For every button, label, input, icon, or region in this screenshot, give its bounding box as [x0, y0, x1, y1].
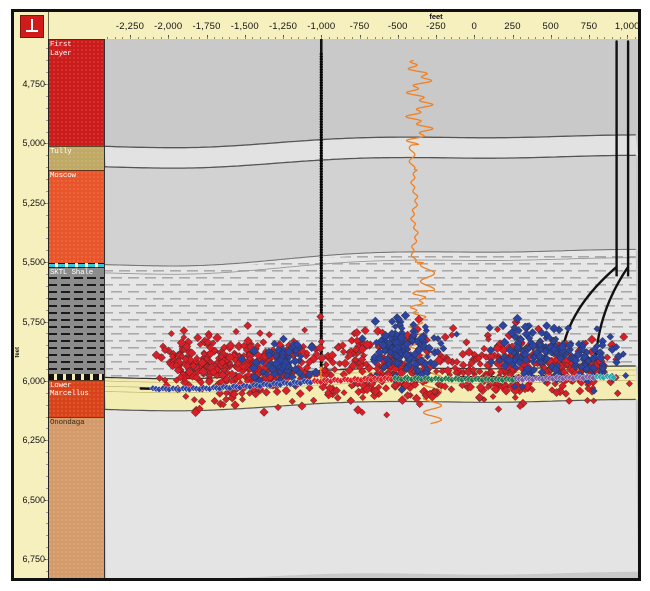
monitor-well-receiver: [320, 207, 323, 208]
monitor-well-receiver: [320, 241, 323, 242]
sktl-hatch-dash: [349, 291, 360, 293]
monitor-well-receiver: [320, 129, 323, 130]
y-axis-minor-tick: [46, 369, 48, 370]
sktl-hatch-dash: [578, 312, 589, 314]
stratigraphic-column: FirstLayerTullyMoscowSKTL ShaleLowerMarc…: [48, 39, 105, 578]
sktl-hatch-dash: [340, 312, 351, 314]
y-axis-minor-tick: [46, 452, 48, 453]
sktl-hatch-dash: [145, 347, 156, 349]
y-axis-minor-tick: [46, 215, 48, 216]
x-axis-tick-label: 1,000: [615, 21, 640, 32]
monitor-well-receiver: [320, 294, 323, 295]
y-axis-minor-tick: [46, 428, 48, 429]
x-axis-tick-label: -1,250: [269, 21, 297, 32]
sktl-hatch-dash: [153, 284, 164, 286]
monitor-well-receiver: [320, 220, 323, 221]
sktl-hatch-dash: [459, 326, 470, 328]
sktl-hatch-dash: [128, 333, 139, 335]
monitor-well-receiver: [320, 147, 323, 148]
sktl-hatch-dash: [213, 305, 224, 307]
y-axis-minor-tick: [46, 84, 48, 85]
cross-section-canvas: [104, 39, 638, 578]
monitor-well-receiver: [320, 283, 323, 284]
sktl-hatch-dash: [213, 291, 224, 293]
monitor-well-receiver: [320, 111, 323, 112]
sktl-hatch-dash: [247, 277, 258, 279]
sktl-hatch-dash: [612, 326, 623, 328]
sktl-hatch-dash: [544, 312, 555, 314]
sktl-hatch-dash: [281, 319, 292, 321]
sktl-hatch-dash: [289, 312, 300, 314]
sktl-hatch-dash: [493, 256, 504, 258]
sktl-hatch-dash: [442, 284, 453, 286]
x-axis-tick-label: -1,000: [307, 21, 335, 32]
y-axis-minor-tick: [46, 571, 48, 572]
sktl-hatch-dash: [493, 284, 504, 286]
sktl-hatch-dash: [119, 312, 130, 314]
y-axis-minor-tick: [46, 405, 48, 406]
sktl-hatch-dash: [145, 319, 156, 321]
sktl-hatch-dash: [230, 277, 241, 279]
monitor-well-receiver: [320, 322, 323, 323]
sktl-hatch-dash: [323, 340, 334, 342]
sktl-hatch-dash: [561, 256, 572, 258]
strat-label-moscow: Moscow: [50, 172, 76, 181]
sktl-hatch-dash: [145, 277, 156, 279]
sktl-hatch-dash: [459, 256, 470, 258]
monitor-well-receiver: [320, 223, 323, 224]
x-axis-tick-label: -250: [426, 21, 446, 32]
monitor-well-receiver: [320, 98, 323, 99]
y-axis-minor-tick: [46, 298, 48, 299]
monitor-well-receiver: [320, 291, 323, 292]
monitor-well-receiver: [320, 121, 323, 122]
sktl-hatch-dash: [247, 305, 258, 307]
y-axis-minor-tick: [46, 310, 48, 311]
monitor-well-receiver: [320, 194, 323, 195]
sktl-hatch-dash: [357, 312, 368, 314]
sktl-hatch-dash: [136, 284, 147, 286]
sktl-hatch-dash: [153, 270, 164, 272]
sktl-hatch-dash: [111, 291, 122, 293]
sktl-hatch-dash: [119, 354, 130, 356]
sktl-hatch-dash: [306, 340, 317, 342]
monitor-well-receiver: [320, 200, 323, 201]
strat-label-onondaga: Onondaga: [50, 419, 84, 428]
sktl-hatch-dash: [170, 284, 181, 286]
monitor-well-receiver: [320, 179, 323, 180]
sktl-hatch-dash: [434, 305, 445, 307]
sktl-hatch-dash: [306, 298, 317, 300]
x-axis-tick-label: -750: [350, 21, 370, 32]
layer-moscow: [104, 155, 638, 266]
sktl-hatch-dash: [536, 263, 547, 265]
sktl-hatch-dash: [179, 319, 190, 321]
y-axis-minor-tick: [46, 191, 48, 192]
sktl-hatch-dash: [434, 277, 445, 279]
y-axis-minor-tick: [46, 96, 48, 97]
sktl-hatch-dash: [629, 340, 638, 342]
sktl-hatch-dash: [451, 305, 462, 307]
sktl-hatch-dash: [340, 270, 351, 272]
monitor-well-receiver: [320, 74, 323, 75]
y-axis-minor-tick: [46, 345, 48, 346]
sktl-hatch-dash: [204, 312, 215, 314]
y-axis-tick-label: 5,750: [22, 317, 45, 327]
sktl-hatch-dash: [451, 347, 462, 349]
strat-label-tully: Tully: [50, 148, 72, 157]
sktl-hatch-dash: [408, 284, 419, 286]
sktl-hatch-dash: [170, 298, 181, 300]
sktl-hatch-dash: [255, 326, 266, 328]
sktl-hatch-dash: [119, 270, 130, 272]
sktl-hatch-dash: [612, 312, 623, 314]
sktl-hatch-dash: [111, 305, 122, 307]
sktl-hatch-dash: [561, 298, 572, 300]
monitor-well-receiver: [320, 335, 323, 336]
sktl-hatch-dash: [272, 298, 283, 300]
monitor-well-receiver: [320, 155, 323, 156]
y-axis-minor-tick: [46, 238, 48, 239]
y-axis-tick-label: 6,750: [22, 554, 45, 564]
sktl-hatch-dash: [357, 256, 368, 258]
sktl-hatch-dash: [476, 312, 487, 314]
sktl-hatch-dash: [357, 284, 368, 286]
sktl-hatch-dash: [493, 298, 504, 300]
monitor-well-receiver: [320, 267, 323, 268]
x-axis-tick-label: -1,500: [231, 21, 259, 32]
strat-marker-band-cyan: [48, 263, 104, 268]
strat-label-first-layer: FirstLayer: [50, 41, 72, 58]
sktl-hatch-dash: [544, 256, 555, 258]
sktl-hatch-dash: [332, 333, 343, 335]
layer-onondaga: [104, 399, 638, 578]
sktl-hatch-dash: [468, 305, 479, 307]
x-axis-tick-label: 750: [581, 21, 597, 32]
sktl-hatch-dash: [374, 298, 385, 300]
monitor-well-receiver: [320, 64, 323, 65]
sktl-hatch-dash: [510, 270, 521, 272]
sktl-hatch-dash: [153, 340, 164, 342]
monitor-well-receiver: [320, 53, 323, 54]
sktl-hatch-dash: [451, 319, 462, 321]
x-axis-tick-label: -2,000: [154, 21, 182, 32]
sktl-hatch-dash: [476, 298, 487, 300]
monitor-well-receiver: [320, 275, 323, 276]
sktl-hatch-dash: [119, 368, 130, 370]
sktl-hatch-dash: [510, 256, 521, 258]
sktl-hatch-dash: [196, 291, 207, 293]
monitor-well-receiver: [320, 85, 323, 86]
y-axis-minor-tick: [46, 333, 48, 334]
y-axis-minor-tick: [46, 547, 48, 548]
sktl-hatch-dash: [536, 305, 547, 307]
sktl-hatch-dash: [162, 291, 173, 293]
sktl-hatch-dash: [578, 270, 589, 272]
y-axis-tick-label: 5,000: [22, 138, 45, 148]
monitor-well-receiver: [320, 137, 323, 138]
monitor-well-receiver: [320, 249, 323, 250]
sktl-hatch-dash: [493, 270, 504, 272]
sktl-hatch-dash: [578, 256, 589, 258]
sktl-hatch-dash: [357, 298, 368, 300]
sktl-hatch-dash: [264, 277, 275, 279]
sktl-hatch-dash: [111, 319, 122, 321]
sktl-hatch-dash: [323, 312, 334, 314]
sktl-hatch-dash: [536, 319, 547, 321]
y-axis-minor-tick: [46, 179, 48, 180]
sktl-hatch-dash: [323, 326, 334, 328]
monitor-well-receiver: [320, 333, 323, 334]
monitor-well-receiver: [320, 152, 323, 153]
monitor-well-receiver: [320, 158, 323, 159]
monitor-well-receiver: [320, 270, 323, 271]
strat-band-moscow: [48, 170, 104, 264]
monitor-well-receiver: [320, 87, 323, 88]
monitor-well-receiver: [320, 132, 323, 133]
sktl-hatch-dash: [485, 291, 496, 293]
sktl-hatch-dash: [391, 270, 402, 272]
monitor-well-receiver: [320, 79, 323, 80]
sktl-hatch-dash: [170, 312, 181, 314]
sktl-hatch-dash: [340, 284, 351, 286]
sktl-hatch-dash: [136, 270, 147, 272]
y-axis-tick-label: 6,000: [22, 376, 45, 386]
sktl-hatch-dash: [391, 298, 402, 300]
y-axis-minor-tick: [46, 143, 48, 144]
sktl-hatch-dash: [196, 277, 207, 279]
sktl-hatch-dash: [587, 319, 598, 321]
sktl-hatch-dash: [221, 298, 232, 300]
sktl-hatch-dash: [332, 277, 343, 279]
sktl-hatch-dash: [119, 284, 130, 286]
y-axis-minor-tick: [46, 322, 48, 323]
sktl-hatch-dash: [408, 270, 419, 272]
x-axis: -2,250-2,000-1,750-1,500-1,250-1,000-750…: [14, 12, 638, 40]
sktl-hatch-dash: [442, 256, 453, 258]
sktl-hatch-dash: [374, 270, 385, 272]
monitor-well-receiver: [320, 286, 323, 287]
sktl-hatch-dash: [306, 312, 317, 314]
sktl-hatch-dash: [425, 312, 436, 314]
y-axis-tick-label: 5,500: [22, 257, 45, 267]
sktl-hatch-dash: [553, 319, 564, 321]
sktl-hatch-dash: [247, 319, 258, 321]
sktl-hatch-dash: [595, 270, 606, 272]
monitor-well-receiver: [320, 288, 323, 289]
x-axis-tick-label: -2,250: [116, 21, 144, 32]
y-axis-minor-tick: [46, 108, 48, 109]
sktl-hatch-dash: [255, 284, 266, 286]
y-axis-minor-tick: [46, 535, 48, 536]
monitor-well-receiver: [320, 239, 323, 240]
sktl-hatch-dash: [221, 284, 232, 286]
company-logo-icon: [20, 15, 44, 38]
sktl-hatch-dash: [595, 256, 606, 258]
sktl-hatch-dash: [510, 284, 521, 286]
monitor-well-receiver: [320, 82, 323, 83]
sktl-hatch-dash: [153, 326, 164, 328]
sktl-hatch-dash: [553, 277, 564, 279]
monitor-well-receiver: [320, 142, 323, 143]
sktl-hatch-dash: [476, 284, 487, 286]
sktl-hatch-dash: [255, 298, 266, 300]
sktl-hatch-dash: [366, 291, 377, 293]
sktl-hatch-dash: [612, 340, 623, 342]
monitor-well-receiver: [320, 273, 323, 274]
sktl-hatch-dash: [621, 361, 632, 363]
sktl-hatch-dash: [476, 270, 487, 272]
sktl-hatch-dash: [136, 298, 147, 300]
sktl-hatch-dash: [570, 291, 581, 293]
sktl-hatch-dash: [383, 263, 394, 265]
sktl-hatch-dash: [468, 291, 479, 293]
y-axis-tick-label: 4,750: [22, 79, 45, 89]
sktl-hatch-dash: [281, 277, 292, 279]
sktl-hatch-dash: [289, 326, 300, 328]
sktl-hatch-dash: [442, 312, 453, 314]
sktl-hatch-dash: [621, 291, 632, 293]
sktl-hatch-dash: [374, 312, 385, 314]
monitor-well-receiver: [320, 260, 323, 261]
monitor-well-receiver: [320, 181, 323, 182]
monitor-well-receiver: [320, 134, 323, 135]
sktl-hatch-dash: [170, 326, 181, 328]
monitor-well-receiver: [320, 325, 323, 326]
sktl-hatch-dash: [145, 375, 156, 377]
sktl-hatch-dash: [111, 277, 122, 279]
sktl-hatch-dash: [204, 326, 215, 328]
sktl-hatch-dash: [621, 319, 632, 321]
monitor-well-receiver: [320, 213, 323, 214]
monitor-well-receiver: [320, 202, 323, 203]
sktl-hatch-dash: [104, 298, 113, 300]
sktl-hatch-dash: [204, 284, 215, 286]
monitor-well-receiver: [320, 247, 323, 248]
y-axis-minor-tick: [46, 440, 48, 441]
sktl-hatch-dash: [298, 333, 309, 335]
sktl-hatch-dash: [349, 277, 360, 279]
sktl-hatch-dash: [527, 284, 538, 286]
strat-band-onondaga: [48, 417, 104, 578]
sktl-hatch-dash: [519, 263, 530, 265]
monitor-well-receiver: [320, 330, 323, 331]
monitor-well-receiver: [320, 218, 323, 219]
sktl-hatch-dash: [136, 354, 147, 356]
sktl-hatch-dash: [323, 270, 334, 272]
sktl-hatch-dash: [179, 291, 190, 293]
sktl-hatch-dash: [162, 375, 173, 377]
sktl-hatch-dash: [196, 305, 207, 307]
monitor-well-receiver: [320, 257, 323, 258]
monitor-well-receiver: [320, 58, 323, 59]
monitor-well-receiver: [320, 92, 323, 93]
sktl-hatch-dash: [621, 263, 632, 265]
sktl-hatch-dash: [434, 263, 445, 265]
sktl-hatch-dash: [145, 361, 156, 363]
y-axis-minor-tick: [46, 286, 48, 287]
sktl-hatch-dash: [221, 270, 232, 272]
x-axis-unit-label: feet: [429, 12, 442, 21]
sktl-hatch-dash: [179, 305, 190, 307]
y-axis-label: feet: [15, 347, 21, 358]
sktl-hatch-dash: [340, 298, 351, 300]
sktl-hatch-dash: [104, 284, 113, 286]
sktl-hatch-dash: [264, 319, 275, 321]
sktl-hatch-dash: [570, 333, 581, 335]
sktl-hatch-dash: [340, 326, 351, 328]
monitor-well-receiver: [320, 150, 323, 151]
sktl-hatch-dash: [476, 340, 487, 342]
sktl-hatch-dash: [170, 270, 181, 272]
monitor-well-receiver: [320, 327, 323, 328]
sktl-hatch-dash: [104, 326, 113, 328]
sktl-hatch-dash: [527, 270, 538, 272]
monitor-well-receiver: [320, 215, 323, 216]
sktl-hatch-dash: [400, 277, 411, 279]
sktl-hatch-dash: [587, 263, 598, 265]
sktl-hatch-dash: [289, 270, 300, 272]
sktl-hatch-dash: [485, 305, 496, 307]
y-axis-minor-tick: [46, 488, 48, 489]
monitor-well-receiver: [320, 105, 323, 106]
sktl-hatch-dash: [306, 284, 317, 286]
strat-label-lower-marcellus: LowerMarcellus: [50, 382, 89, 399]
sktl-hatch-dash: [366, 263, 377, 265]
monitor-well-receiver: [320, 176, 323, 177]
y-axis-minor-tick: [46, 132, 48, 133]
sktl-hatch-dash: [128, 375, 139, 377]
sktl-hatch-dash: [629, 326, 638, 328]
sktl-hatch-dash: [536, 291, 547, 293]
monitor-well-receiver: [320, 126, 323, 127]
sktl-hatch-dash: [128, 347, 139, 349]
sktl-hatch-dash: [323, 284, 334, 286]
sktl-hatch-dash: [604, 305, 615, 307]
sktl-hatch-dash: [349, 305, 360, 307]
sktl-hatch-dash: [468, 333, 479, 335]
sktl-hatch-dash: [128, 277, 139, 279]
sktl-hatch-dash: [187, 284, 198, 286]
sktl-hatch-dash: [204, 270, 215, 272]
sktl-hatch-dash: [502, 305, 513, 307]
sktl-hatch-dash: [366, 277, 377, 279]
sktl-hatch-dash: [425, 298, 436, 300]
sktl-hatch-dash: [578, 326, 589, 328]
monitor-well-receiver: [320, 103, 323, 104]
x-axis-tick-label: 500: [543, 21, 559, 32]
sktl-hatch-dash: [136, 312, 147, 314]
sktl-hatch-dash: [400, 291, 411, 293]
sktl-hatch-dash: [247, 291, 258, 293]
monitor-well-receiver: [320, 265, 323, 266]
sktl-hatch-dash: [238, 312, 249, 314]
y-axis-minor-tick: [46, 60, 48, 61]
monitor-well-receiver: [320, 61, 323, 62]
logo-cell: [14, 12, 49, 39]
sktl-hatch-dash: [587, 277, 598, 279]
sktl-hatch-dash: [145, 291, 156, 293]
sktl-hatch-dash: [374, 256, 385, 258]
sktl-hatch-dash: [128, 319, 139, 321]
monitor-well-receiver: [320, 307, 323, 308]
sktl-hatch-dash: [442, 270, 453, 272]
sktl-hatch-dash: [196, 347, 207, 349]
sktl-hatch-dash: [187, 270, 198, 272]
sktl-hatch-dash: [383, 305, 394, 307]
sktl-hatch-dash: [527, 298, 538, 300]
sktl-hatch-dash: [111, 347, 122, 349]
